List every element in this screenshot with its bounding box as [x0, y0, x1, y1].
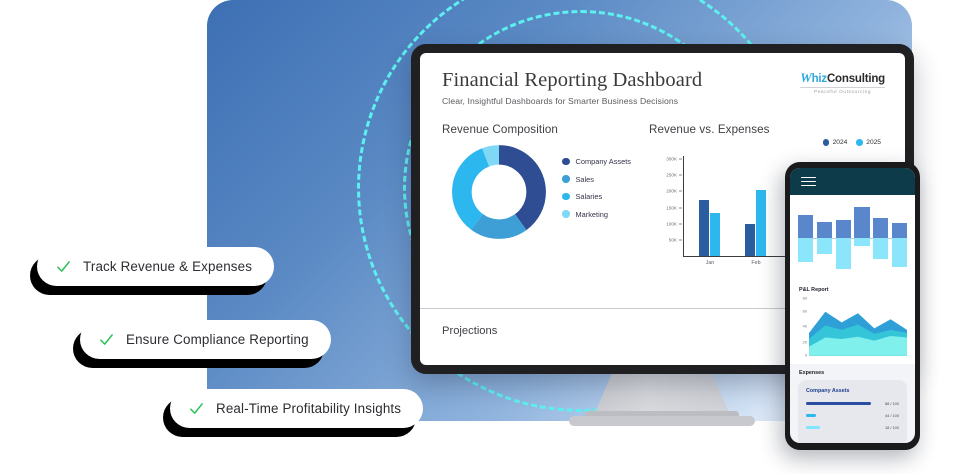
progress-fill — [806, 402, 871, 405]
waterfall-bar-above[interactable] — [892, 223, 907, 238]
waterfall-column — [854, 202, 869, 274]
asset-progress-rows: 88 / 10044 / 10018 / 100 — [806, 401, 899, 430]
brand-logo-first-part: hiz — [812, 73, 827, 85]
feature-badge-track-revenue[interactable]: Track Revenue & Expenses — [37, 247, 274, 286]
legend-color-swatch — [823, 139, 830, 146]
legend-color-swatch — [562, 175, 570, 183]
progress-track[interactable] — [806, 402, 880, 405]
legend-label: Salaries — [576, 192, 603, 201]
legend-color-swatch — [856, 139, 863, 146]
waterfall-bars — [798, 202, 907, 274]
revenue-vs-expenses-title: Revenue vs. Expenses — [649, 123, 877, 136]
area-chart-svg — [809, 295, 907, 356]
mobile-area-card: 806040200 — [790, 295, 915, 364]
legend-item-2024[interactable]: 2024 — [823, 139, 848, 146]
waterfall-bar-below[interactable] — [817, 238, 832, 254]
waterfall-chart — [790, 195, 915, 281]
bar-2024[interactable] — [699, 200, 709, 257]
waterfall-column — [873, 202, 888, 274]
donut-legend: Company Assets Sales Salaries — [562, 157, 631, 227]
brand-logo-rule — [800, 87, 885, 88]
legend-item[interactable]: Salaries — [562, 192, 631, 201]
revenue-composition-title: Revenue Composition — [442, 123, 631, 136]
x-axis-tick-label: Feb — [733, 260, 779, 266]
legend-item-2025[interactable]: 2025 — [856, 139, 881, 146]
waterfall-bar-above[interactable] — [817, 222, 832, 238]
projections-section-label: Projections — [442, 325, 497, 337]
donut-chart — [450, 143, 548, 241]
area-chart: 806040200 — [796, 295, 909, 357]
legend-item[interactable]: Marketing — [562, 210, 631, 219]
hamburger-icon[interactable] — [801, 177, 816, 187]
bar-group — [733, 156, 779, 256]
feature-badge-label: Track Revenue & Expenses — [83, 259, 252, 274]
waterfall-column — [836, 202, 851, 274]
feature-badge-compliance[interactable]: Ensure Compliance Reporting — [80, 320, 331, 359]
progress-track[interactable] — [806, 414, 880, 417]
mobile-device: P&L Report 806040200 Expenses Company As… — [785, 162, 920, 450]
legend-label: 2024 — [833, 139, 848, 146]
brand-logo-tagline: Peaceful Outsourcing — [800, 90, 885, 95]
waterfall-column — [817, 202, 832, 274]
check-icon — [188, 400, 205, 417]
feature-badge-label: Real-Time Profitability Insights — [216, 401, 401, 416]
y-axis: 50K100K150K200K250K300K — [649, 156, 683, 256]
mobile-screen: P&L Report 806040200 Expenses Company As… — [790, 168, 915, 443]
area-y-axis-tick-label: 20 — [803, 339, 807, 344]
bar-group — [687, 156, 733, 256]
y-axis-tick-mark — [679, 175, 682, 176]
x-axis-tick-label: Jan — [687, 260, 733, 266]
pl-report-label: P&L Report — [790, 281, 915, 295]
feature-badge-profitability[interactable]: Real-Time Profitability Insights — [170, 389, 423, 428]
legend-label: Marketing — [576, 210, 608, 219]
legend-item[interactable]: Sales — [562, 175, 631, 184]
waterfall-bar-below[interactable] — [873, 238, 888, 259]
mobile-waterfall-card — [790, 195, 915, 281]
waterfall-column — [798, 202, 813, 274]
y-axis-line — [683, 156, 684, 256]
legend-label: 2025 — [866, 139, 881, 146]
y-axis-tick-mark — [679, 239, 682, 240]
y-axis-tick-mark — [679, 223, 682, 224]
mobile-header — [790, 168, 915, 195]
asset-progress-row: 18 / 100 — [806, 425, 899, 430]
progress-value-label: 18 / 100 — [885, 425, 899, 430]
revenue-composition-chart: Revenue Composition Company Assets — [442, 123, 631, 274]
donut-and-legend: Company Assets Sales Salaries — [442, 143, 631, 241]
screenshot-root: Financial Reporting Dashboard Clear, Ins… — [0, 0, 959, 474]
y-axis-tick-label: 300K — [666, 157, 677, 162]
asset-progress-row: 44 / 100 — [806, 413, 899, 418]
waterfall-bar-above[interactable] — [798, 215, 813, 238]
progress-value-label: 44 / 100 — [885, 413, 899, 418]
legend-color-swatch — [562, 210, 570, 218]
waterfall-bar-above[interactable] — [836, 220, 851, 238]
area-y-axis-tick-label: 0 — [805, 353, 807, 358]
feature-badge-label: Ensure Compliance Reporting — [126, 332, 309, 347]
legend-color-swatch — [562, 193, 570, 201]
bar-chart-legend: 2024 2025 — [823, 139, 881, 146]
waterfall-bar-below[interactable] — [892, 238, 907, 267]
brand-logo-second-part: Consulting — [827, 73, 885, 85]
y-axis-tick-mark — [679, 191, 682, 192]
area-series-series-c[interactable] — [809, 336, 907, 356]
y-axis-tick-mark — [679, 207, 682, 208]
area-chart-y-axis: 806040200 — [796, 295, 808, 357]
legend-item[interactable]: Company Assets — [562, 157, 631, 166]
monitor-stand-base — [569, 416, 755, 426]
brand-logo: WhizConsulting Peaceful Outsourcing — [800, 71, 885, 94]
waterfall-column — [892, 202, 907, 274]
company-assets-card: Company Assets 88 / 10044 / 10018 / 100 — [798, 380, 907, 443]
bar-2024[interactable] — [745, 224, 755, 256]
waterfall-bar-below[interactable] — [798, 238, 813, 262]
area-y-axis-tick-label: 40 — [803, 324, 807, 329]
waterfall-bar-below[interactable] — [836, 238, 851, 269]
area-y-axis-tick-label: 60 — [803, 308, 807, 313]
expenses-label: Expenses — [790, 364, 915, 380]
waterfall-bar-above[interactable] — [873, 218, 888, 238]
company-assets-title: Company Assets — [806, 388, 899, 394]
check-icon — [98, 331, 115, 348]
progress-value-label: 88 / 100 — [885, 401, 899, 406]
progress-fill — [806, 414, 816, 417]
progress-track[interactable] — [806, 426, 880, 429]
bar-2025[interactable] — [710, 213, 720, 257]
page-subtitle: Clear, Insightful Dashboards for Smarter… — [442, 96, 883, 106]
check-icon — [55, 258, 72, 275]
waterfall-bar-above[interactable] — [854, 207, 869, 238]
donut-svg — [450, 143, 548, 241]
y-axis-tick-label: 50K — [669, 237, 677, 242]
y-axis-tick-label: 150K — [666, 205, 677, 210]
y-axis-tick-label: 250K — [666, 173, 677, 178]
progress-fill — [806, 426, 820, 429]
legend-color-swatch — [562, 158, 570, 166]
waterfall-bar-below[interactable] — [854, 238, 869, 246]
brand-logo-text: WhizConsulting — [800, 71, 885, 86]
y-axis-tick-label: 100K — [666, 221, 677, 226]
brand-logo-initial: W — [800, 70, 811, 85]
asset-progress-row: 88 / 100 — [806, 401, 899, 406]
legend-label: Company Assets — [576, 157, 631, 166]
y-axis-tick-mark — [679, 159, 682, 160]
legend-label: Sales — [576, 175, 595, 184]
y-axis-tick-label: 200K — [666, 189, 677, 194]
area-y-axis-tick-label: 80 — [803, 296, 807, 301]
bar-2025[interactable] — [756, 190, 766, 256]
